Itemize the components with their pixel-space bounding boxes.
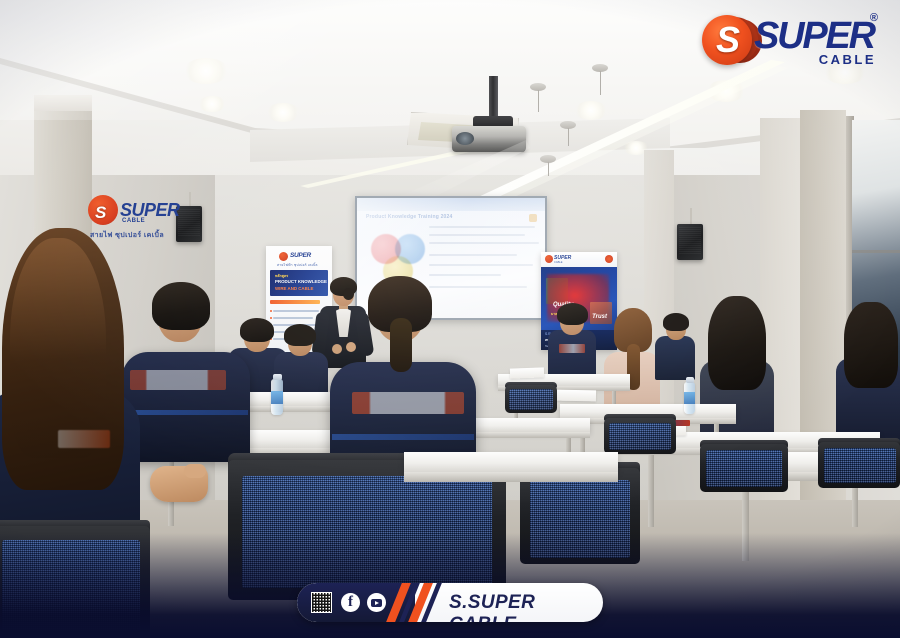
hanger-wire [538, 90, 539, 112]
bottom-bar-brand-text: S.SUPER CABLE [449, 592, 603, 622]
speaker-grill [178, 208, 200, 236]
window-mullion [852, 250, 900, 253]
speaker-bracket [690, 208, 692, 224]
projector-lens [456, 132, 474, 145]
super-logo-mark-icon [545, 255, 553, 263]
jacket-super-logo [352, 392, 464, 414]
hanger-wire [600, 71, 601, 95]
logo-wordmark: SUPER [754, 17, 874, 55]
banner-left-headline-1: PRODUCT KNOWLEDGE [275, 279, 327, 284]
hanger-wire [548, 162, 549, 176]
jacket-super-logo [58, 430, 110, 448]
logo-s-letter-icon: S [710, 20, 746, 60]
banner-left-logo: SUPER [279, 252, 319, 262]
banner-left-headline-2: WIRE AND CABLE [275, 286, 313, 291]
logo-s-letter: S [95, 204, 111, 221]
document-paper [510, 367, 544, 378]
banner-right-photo-2 [590, 302, 612, 324]
banner-left-accent-bar [270, 300, 320, 304]
document-paper [556, 390, 596, 402]
super-logo-mark-icon: S [88, 195, 118, 225]
youtube-icon[interactable] [367, 593, 386, 612]
qr-code-icon[interactable] [311, 592, 332, 613]
wall-logo-sub: CABLE [122, 218, 145, 224]
downlight-icon [198, 96, 226, 112]
downlight-icon [574, 101, 608, 120]
seminar-photo: S SUPER CABLE สายไฟ ซุปเปอร์ เคเบิ้ล Pro… [0, 0, 900, 638]
brand-logo-top-right: S SUPER CABLE ® [680, 10, 880, 68]
banner-right-word-trust: Trust [592, 314, 607, 320]
pillar-left-cap [34, 95, 92, 111]
downlight-icon [183, 58, 229, 84]
hanger-wire [568, 128, 569, 146]
wall-mounted-brand-logo: S SUPER CABLE สายไฟ ซุปเปอร์ เคเบิ้ล [88, 192, 170, 248]
downlight-icon [266, 103, 300, 122]
wall-logo-thai: สายไฟ ซุปเปอร์ เคเบิ้ล [90, 230, 164, 241]
banner-left-logo-name: SUPER [290, 252, 311, 259]
wall-speaker-right [677, 224, 703, 260]
banner-right-header: SUPER CABLE [541, 252, 617, 267]
banner-right-logo-sub: CABLE [554, 261, 563, 264]
banner-left-logo-thai: สายไฟฟ้า ซุปเปอร์ เคเบิ้ล [277, 263, 318, 268]
banner-right-badge-icon [605, 255, 613, 263]
speaker-grill [679, 226, 701, 254]
desk-foreground-center [404, 452, 618, 472]
jacket-super-logo [559, 344, 585, 353]
jacket-super-logo [130, 370, 226, 390]
facebook-icon[interactable]: f [341, 593, 360, 612]
super-logo-mark-icon [279, 252, 288, 261]
logo-registered-mark: ® [870, 12, 878, 24]
projector-pole-mount [489, 76, 498, 120]
bottom-brand-bar: f S.SUPER CABLE [297, 583, 603, 622]
banner-left-headline-block: หลักสูตร PRODUCT KNOWLEDGE WIRE AND CABL… [270, 270, 328, 296]
speaker-bracket [189, 192, 191, 206]
logo-cable-text: CABLE [819, 52, 876, 67]
